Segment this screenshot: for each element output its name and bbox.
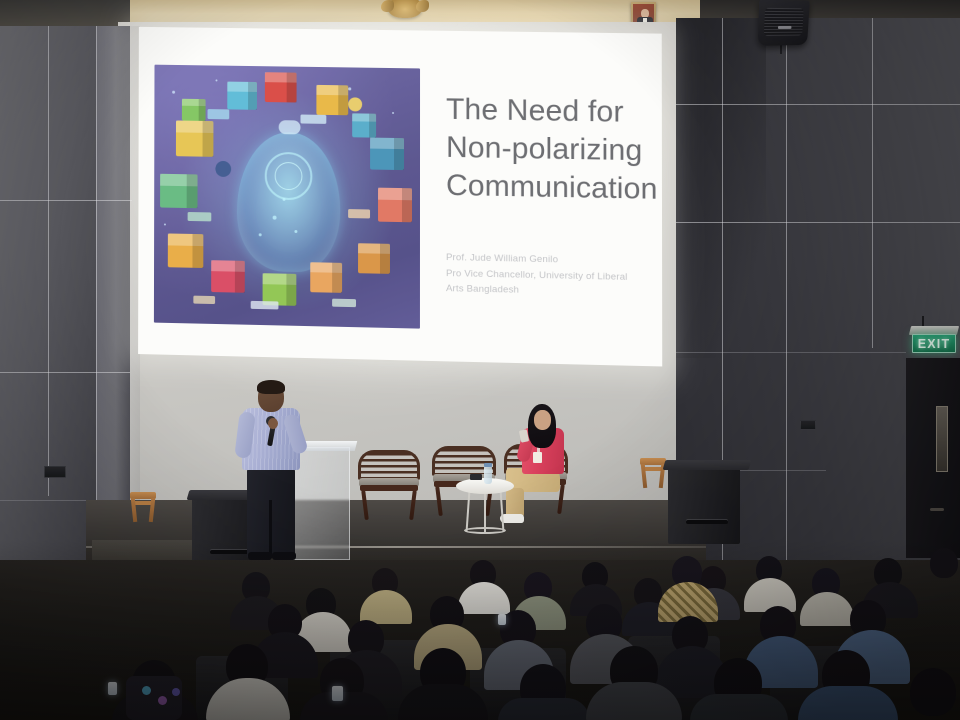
art-cube bbox=[160, 174, 197, 208]
auditorium-photo-scene: EXIT bbox=[0, 0, 960, 720]
art-star bbox=[392, 112, 394, 114]
table-leg bbox=[466, 490, 471, 532]
chair-leg bbox=[409, 490, 417, 520]
art-chip bbox=[208, 109, 230, 119]
subwoofer-port bbox=[686, 520, 728, 524]
water-bottle[interactable] bbox=[484, 466, 492, 484]
backpack-pin bbox=[142, 686, 151, 695]
slide-title-line-2: Non-polarizing bbox=[446, 129, 658, 171]
art-cube bbox=[182, 99, 206, 121]
art-star bbox=[215, 79, 217, 81]
art-sun-glyph bbox=[348, 97, 362, 111]
exit-door[interactable] bbox=[906, 358, 960, 558]
audience-phone-screen bbox=[332, 686, 343, 701]
garuda-emblem-icon bbox=[388, 0, 422, 18]
slide-title: The Need for Non-polarizing Communicatio… bbox=[446, 91, 658, 208]
audience-member-head bbox=[930, 548, 958, 578]
slide-illustration bbox=[154, 65, 420, 329]
chair-leg bbox=[435, 486, 443, 516]
panelist-id-badge bbox=[533, 452, 542, 463]
art-chip bbox=[332, 299, 356, 308]
slide-text-block: The Need for Non-polarizing Communicatio… bbox=[420, 46, 664, 348]
art-chip bbox=[348, 209, 370, 218]
presentation-clicker[interactable] bbox=[470, 474, 482, 480]
chair-backrest bbox=[358, 450, 420, 480]
art-cube bbox=[310, 262, 342, 293]
panel-chair[interactable] bbox=[358, 450, 420, 522]
table-leg bbox=[484, 490, 486, 532]
art-cloud-glyph bbox=[279, 120, 301, 134]
presentation-slide: The Need for Non-polarizing Communicatio… bbox=[138, 27, 662, 367]
subwoofer-port bbox=[210, 550, 252, 554]
art-node bbox=[294, 230, 297, 233]
exit-sign-bracket bbox=[922, 316, 924, 326]
subwoofer-top bbox=[663, 460, 752, 470]
art-cube bbox=[176, 120, 214, 156]
door-handle[interactable] bbox=[930, 508, 944, 511]
art-node bbox=[259, 233, 262, 236]
slide-title-line-1: The Need for bbox=[446, 91, 657, 132]
exit-sign-label: EXIT bbox=[918, 337, 951, 351]
art-globe-glyph bbox=[215, 161, 231, 177]
art-cube bbox=[265, 72, 297, 102]
art-cube bbox=[352, 113, 376, 137]
grout-line bbox=[48, 26, 49, 496]
table-foot-ring bbox=[464, 527, 506, 534]
wooden-stool bbox=[130, 492, 156, 522]
bottle-cap bbox=[484, 463, 492, 467]
art-chip bbox=[300, 115, 326, 124]
art-chip bbox=[193, 296, 215, 304]
projection-screen: The Need for Non-polarizing Communicatio… bbox=[138, 27, 662, 367]
door-window-pane bbox=[936, 406, 948, 472]
stage-subwoofer bbox=[668, 468, 740, 544]
presenter-shoe bbox=[272, 552, 296, 560]
audience-backpack bbox=[126, 676, 182, 720]
backpack-pin bbox=[172, 688, 180, 696]
slide-subtitle: Prof. Jude William Genilo Pro Vice Chanc… bbox=[446, 250, 658, 301]
art-chip bbox=[251, 301, 279, 310]
audience-phone-screen bbox=[498, 614, 506, 625]
wall-right-shadow bbox=[676, 18, 766, 358]
panelist-face bbox=[534, 410, 551, 430]
art-cube bbox=[168, 233, 204, 268]
audience-member-body bbox=[300, 692, 388, 720]
slide-title-line-3: Communication bbox=[446, 166, 658, 208]
backpack-pin bbox=[158, 696, 167, 705]
pa-loudspeaker bbox=[758, 0, 810, 46]
art-chip bbox=[188, 212, 212, 221]
art-node bbox=[273, 216, 277, 220]
wall-outlet-plate bbox=[44, 466, 66, 478]
audience-member-body bbox=[798, 686, 898, 720]
grout-line bbox=[676, 104, 960, 105]
art-cube bbox=[227, 82, 257, 110]
presenter-hand bbox=[268, 418, 278, 429]
presenter-shoe bbox=[248, 552, 272, 560]
art-cube bbox=[211, 260, 245, 293]
side-table-base bbox=[464, 490, 506, 534]
art-star bbox=[164, 223, 166, 225]
grout-line bbox=[96, 26, 97, 526]
speaker-grill bbox=[764, 8, 804, 36]
art-cube bbox=[358, 243, 390, 274]
presenter-hair bbox=[257, 380, 285, 394]
audience-member-head bbox=[910, 668, 956, 716]
art-cube bbox=[316, 85, 348, 115]
art-cube bbox=[370, 138, 404, 171]
wall-outlet-plate bbox=[800, 420, 816, 430]
grout-line bbox=[0, 200, 132, 201]
wooden-stool bbox=[640, 458, 666, 488]
presenter-leg-separation bbox=[269, 500, 272, 558]
emblem-wing-right bbox=[416, 0, 429, 12]
exit-sign-panel: EXIT bbox=[912, 334, 956, 353]
art-star bbox=[348, 87, 350, 90]
art-star bbox=[172, 91, 175, 94]
speaker-badge bbox=[778, 26, 792, 29]
grout-line bbox=[0, 372, 130, 373]
emblem-wing-left bbox=[381, 0, 394, 12]
grout-line bbox=[676, 222, 960, 223]
table-leg bbox=[500, 490, 505, 532]
audience-member-body bbox=[690, 694, 788, 720]
art-head-ring-inner bbox=[275, 162, 303, 190]
chair-leg bbox=[361, 490, 369, 520]
grout-line bbox=[872, 18, 873, 348]
chair-apron bbox=[360, 485, 418, 491]
art-node bbox=[283, 198, 286, 201]
audience-phone-screen bbox=[108, 682, 117, 695]
art-cube bbox=[378, 188, 412, 223]
audience-member-body bbox=[498, 698, 590, 720]
grout-line bbox=[676, 352, 906, 353]
